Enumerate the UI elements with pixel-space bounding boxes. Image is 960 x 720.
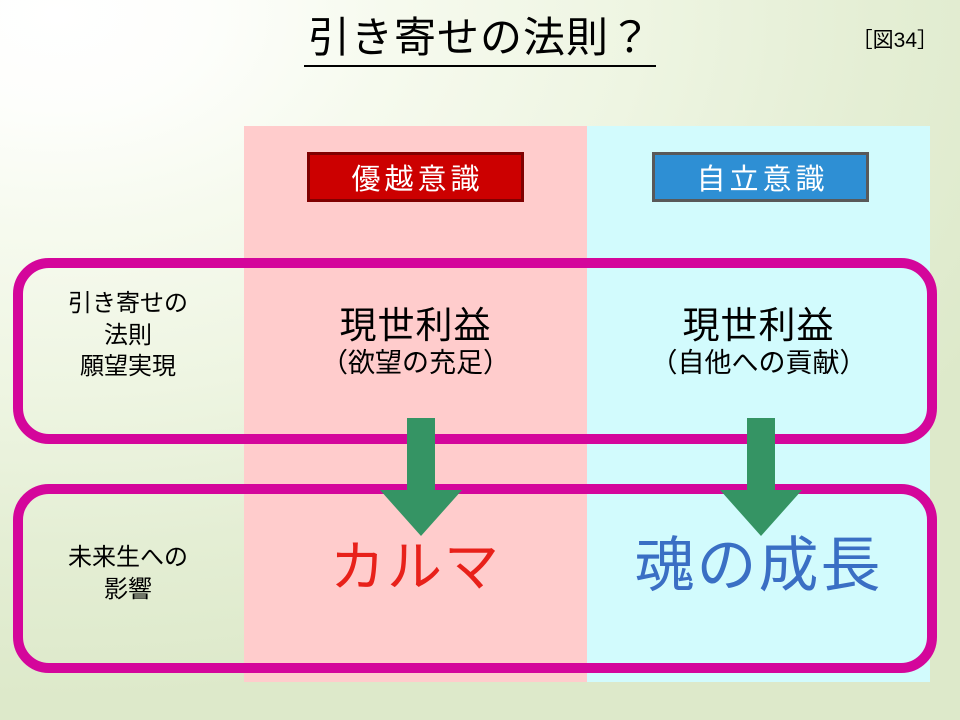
cell-future-superiority: カルマ bbox=[244, 537, 587, 598]
page-title: 引き寄せの法則？ bbox=[304, 14, 656, 67]
cell-main-text: カルマ bbox=[244, 537, 587, 598]
arrow-down-icon-right bbox=[720, 418, 802, 536]
slide-canvas: 引き寄せの法則？ ［図34］ 優越意識 自立意識 引き寄せの 法則 願望実現 未… bbox=[0, 0, 960, 720]
arrow-down-icon-left bbox=[380, 418, 462, 536]
cell-main-text: 魂の成長 bbox=[587, 533, 930, 599]
badge-superiority[interactable]: 優越意識 bbox=[307, 152, 524, 202]
row-label-line: 願望実現 bbox=[22, 351, 234, 383]
title-container: 引き寄せの法則？ bbox=[0, 14, 960, 67]
cell-main-text: 現世利益 bbox=[587, 305, 930, 347]
cell-attraction-superiority: 現世利益 （欲望の充足） bbox=[244, 305, 587, 380]
row-label-effect-on-future-life: 未来生への 影響 bbox=[22, 542, 234, 605]
row-label-line: 影響 bbox=[22, 574, 234, 606]
row-label-line: 未来生への bbox=[22, 542, 234, 574]
row-label-line: 法則 bbox=[22, 320, 234, 352]
cell-sub-text: （欲望の充足） bbox=[244, 347, 587, 379]
row-label-line: 引き寄せの bbox=[22, 288, 234, 320]
cell-main-text: 現世利益 bbox=[244, 305, 587, 347]
cell-sub-text: （自他への貢献） bbox=[587, 347, 930, 379]
cell-future-independence: 魂の成長 bbox=[587, 533, 930, 599]
row-label-law-of-attraction: 引き寄せの 法則 願望実現 bbox=[22, 288, 234, 383]
badge-independence[interactable]: 自立意識 bbox=[652, 152, 869, 202]
cell-attraction-independence: 現世利益 （自他への貢献） bbox=[587, 305, 930, 380]
figure-number-label: ［図34］ bbox=[852, 24, 938, 54]
